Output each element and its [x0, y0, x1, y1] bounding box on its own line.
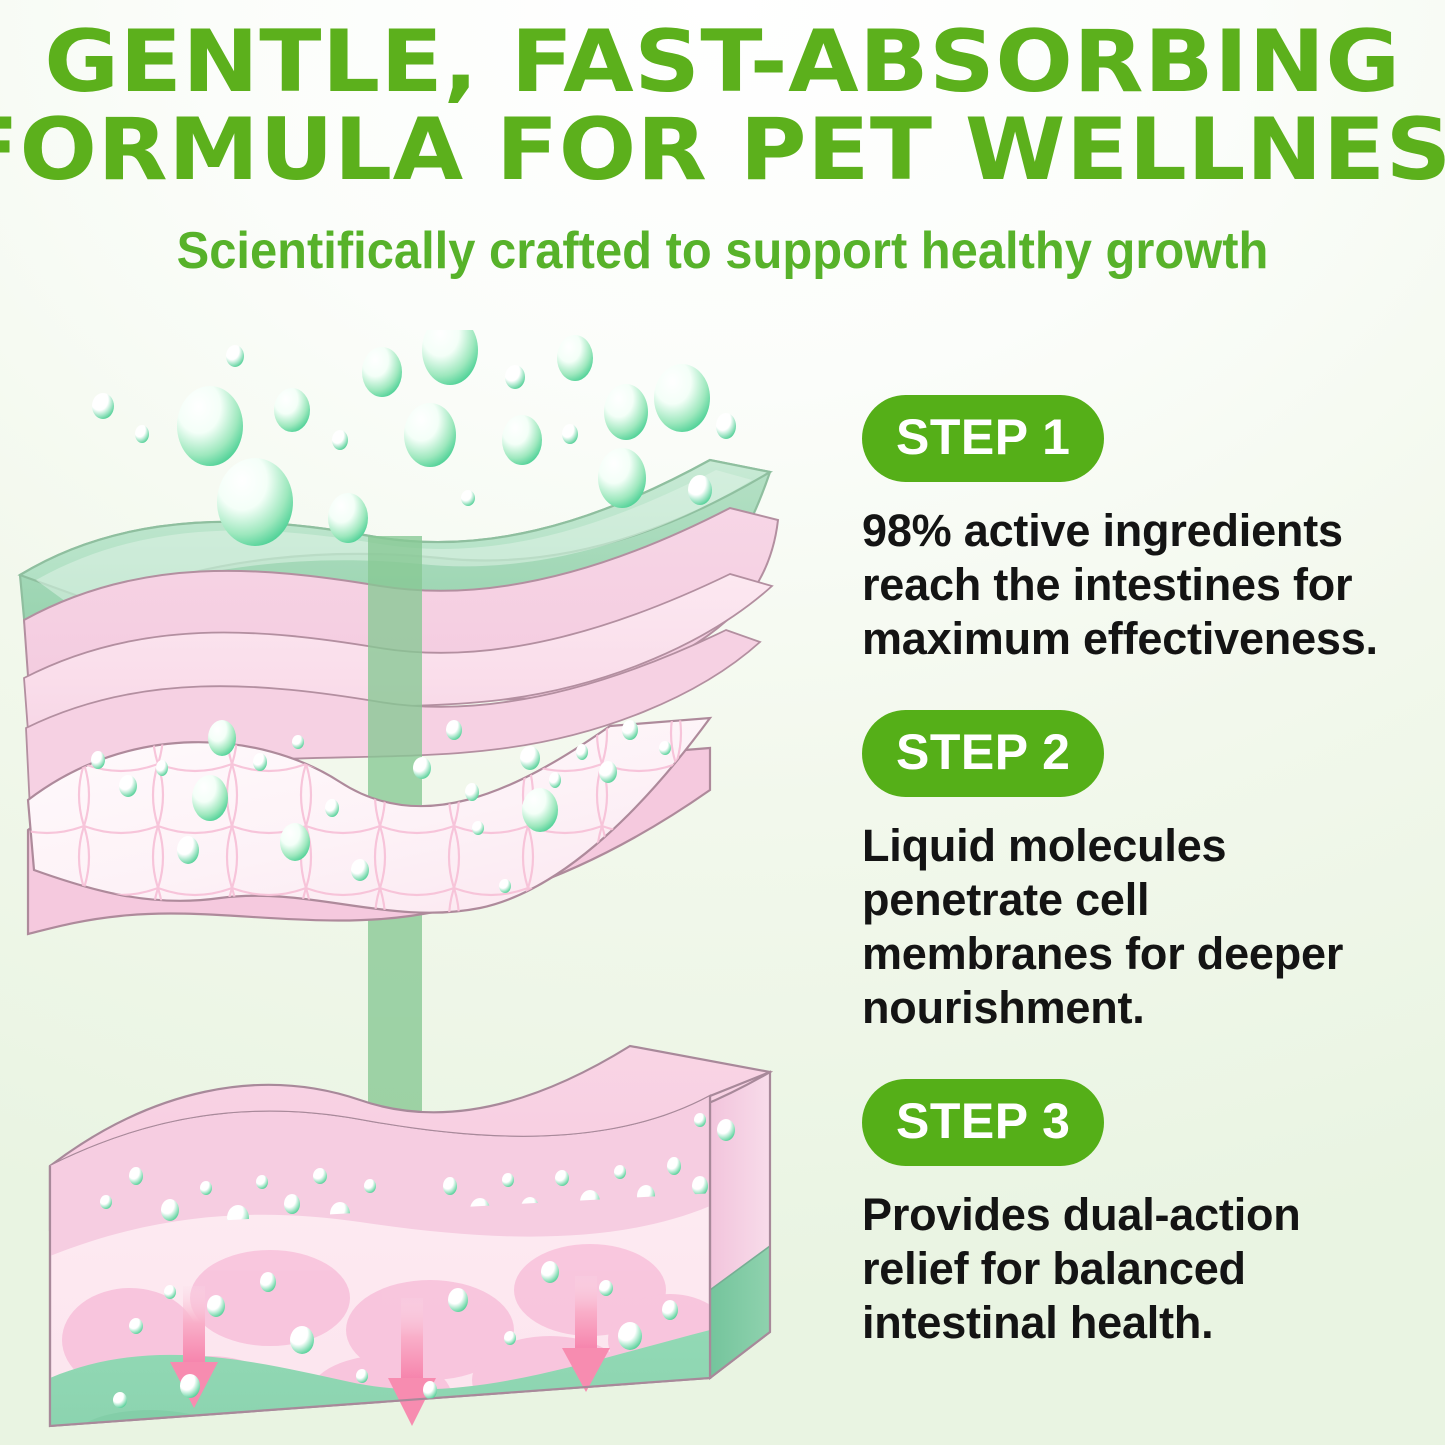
step-badge-2: STEP 2 [862, 710, 1104, 797]
poster-root: GENTLE, FAST-ABSORBING FORMULA FOR PET W… [0, 0, 1445, 1445]
step-description-1: 98% active ingredients reach the intesti… [862, 504, 1407, 666]
step-item-1: STEP 1 98% active ingredients reach the … [862, 395, 1422, 666]
layered-absorption-diagram [10, 330, 830, 1440]
step-item-2: STEP 2 Liquid molecules penetrate cell m… [862, 710, 1422, 1035]
step-badge-3: STEP 3 [862, 1079, 1104, 1166]
header: GENTLE, FAST-ABSORBING FORMULA FOR PET W… [0, 0, 1445, 281]
page-title-line-1: GENTLE, FAST-ABSORBING [0, 22, 1445, 104]
step-badge-1: STEP 1 [862, 395, 1104, 482]
page-title-line-2: FORMULA FOR PET WELLNESS [0, 110, 1445, 192]
step-description-3: Provides dual-action relief for balanced… [862, 1188, 1407, 1350]
step-description-2: Liquid molecules penetrate cell membrane… [862, 819, 1407, 1035]
page-subtitle: Scientifically crafted to support health… [43, 221, 1401, 281]
steps-list: STEP 1 98% active ingredients reach the … [862, 395, 1422, 1384]
step-item-3: STEP 3 Provides dual-action relief for b… [862, 1079, 1422, 1350]
